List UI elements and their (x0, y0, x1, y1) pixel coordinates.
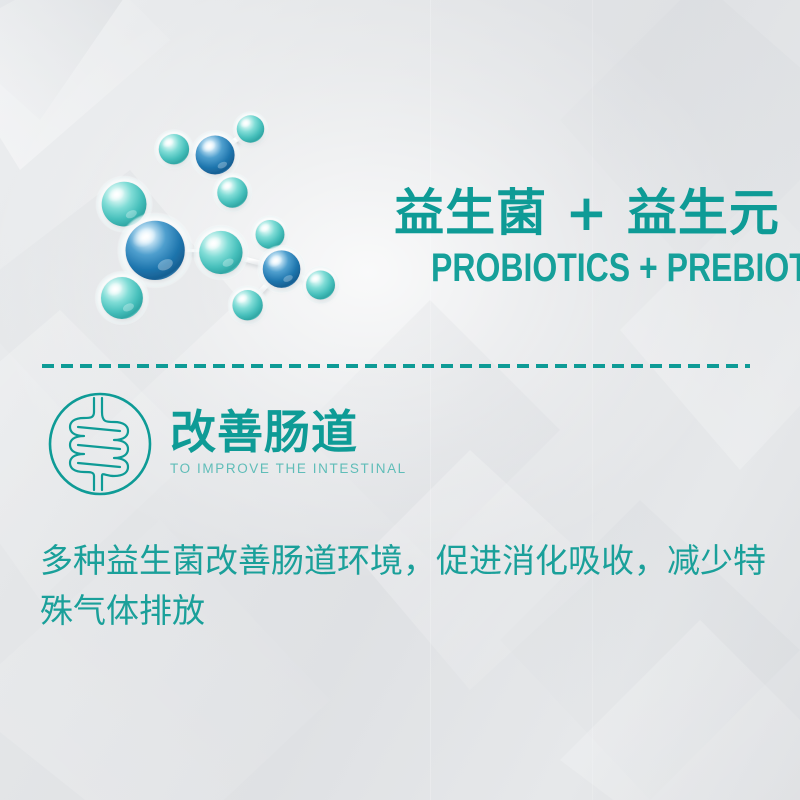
molecule-graphic (88, 100, 348, 340)
intestine-icon (44, 388, 156, 500)
atom-a7 (95, 271, 150, 326)
section-title-english: TO IMPROVE THE INTESTINAL (170, 461, 407, 476)
atom-a8 (193, 224, 249, 280)
headline-chinese: 益生菌 + 益生元 (392, 186, 782, 240)
dashed-divider (42, 364, 750, 368)
poster-canvas: 益生菌 + 益生元 PROBIOTICS + PREBIOTICS (0, 0, 800, 800)
section-text-block: 改善肠道 TO IMPROVE THE INTESTINAL (170, 408, 407, 479)
headline-english: PROBIOTICS + PREBIOTICS (431, 248, 743, 288)
section-header-row: 改善肠道 TO IMPROVE THE INTESTINAL (44, 388, 407, 500)
atom-a11 (301, 266, 340, 305)
headline-block: 益生菌 + 益生元 PROBIOTICS + PREBIOTICS (392, 186, 782, 288)
atom-a10 (257, 245, 306, 294)
body-description: 多种益生菌改善肠道环境，促进消化吸收，减少特殊气体排放 (40, 536, 770, 636)
atom-a3 (154, 129, 194, 169)
atom-a1 (232, 111, 268, 147)
atom-a12 (227, 285, 267, 325)
atom-a4 (212, 172, 252, 212)
section-title-chinese: 改善肠道 (170, 408, 407, 456)
